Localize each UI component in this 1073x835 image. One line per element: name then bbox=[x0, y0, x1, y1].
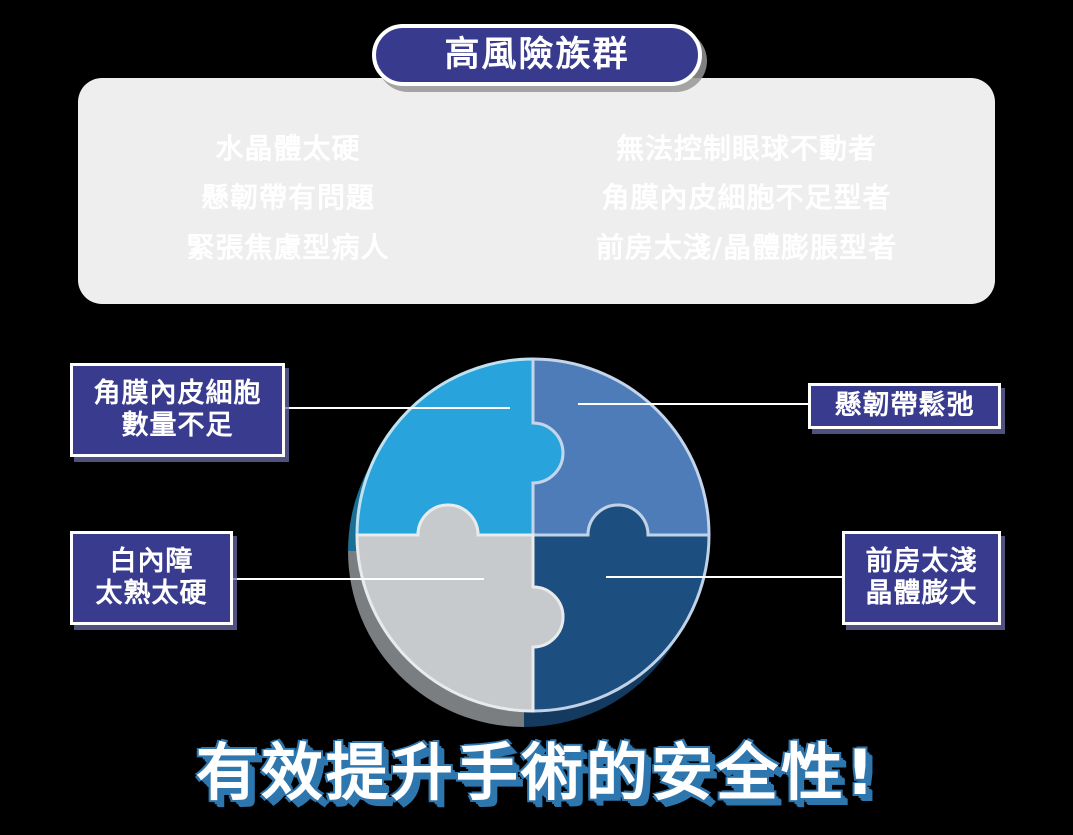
poster-canvas: 水晶體太硬 懸韌帶有問題 緊張焦慮型病人 無法控制眼球不動者 角膜內皮細胞不足型… bbox=[0, 0, 1073, 835]
callout-line: 前房太淺 bbox=[866, 546, 978, 578]
callout-line: 太熟太硬 bbox=[96, 578, 208, 610]
risk-item: 前房太淺/晶體膨脹型者 bbox=[596, 233, 897, 262]
page-title-badge: 高風險族群 bbox=[372, 24, 702, 86]
callout-line: 角膜內皮細胞 bbox=[94, 378, 262, 410]
page-title: 高風險族群 bbox=[444, 38, 629, 73]
callout-shallow-anterior-chamber[interactable]: 前房太淺 晶體膨大 bbox=[842, 531, 1001, 625]
risk-columns: 水晶體太硬 懸韌帶有問題 緊張焦慮型病人 無法控制眼球不動者 角膜內皮細胞不足型… bbox=[78, 78, 995, 304]
footer-headline-wrap: 有效提升手術的安全性! bbox=[0, 742, 1073, 804]
risk-item: 無法控制眼球不動者 bbox=[616, 134, 877, 163]
risk-item: 緊張焦慮型病人 bbox=[186, 233, 389, 262]
connector-line-bottom-right bbox=[606, 576, 854, 578]
connector-line-bottom-left bbox=[232, 578, 484, 580]
callout-zonule-laxity[interactable]: 懸韌帶鬆弛 bbox=[808, 383, 1001, 429]
puzzle-top-layer bbox=[357, 359, 709, 711]
risk-item: 角膜內皮細胞不足型者 bbox=[601, 183, 891, 212]
risk-column-left: 水晶體太硬 懸韌帶有問題 緊張焦慮型病人 bbox=[78, 134, 498, 262]
risk-item: 水晶體太硬 bbox=[215, 134, 360, 163]
connector-line-top-left bbox=[285, 407, 510, 409]
puzzle-piece-bottom-left bbox=[357, 505, 563, 711]
high-risk-panel: 水晶體太硬 懸韌帶有問題 緊張焦慮型病人 無法控制眼球不動者 角膜內皮細胞不足型… bbox=[78, 78, 995, 304]
callout-cataract-hardness[interactable]: 白內障 太熟太硬 bbox=[70, 531, 233, 625]
risk-column-right: 無法控制眼球不動者 角膜內皮細胞不足型者 前房太淺/晶體膨脹型者 bbox=[498, 134, 995, 262]
connector-line-top-right bbox=[578, 403, 810, 405]
callout-line: 懸韌帶鬆弛 bbox=[835, 390, 975, 422]
footer-headline: 有效提升手術的安全性! bbox=[196, 742, 877, 804]
risk-item: 懸韌帶有問題 bbox=[201, 183, 375, 212]
callout-line: 白內障 bbox=[110, 546, 194, 578]
callout-line: 晶體膨大 bbox=[866, 578, 978, 610]
callout-line: 數量不足 bbox=[122, 410, 234, 442]
callout-corneal-endothelium[interactable]: 角膜內皮細胞 數量不足 bbox=[70, 363, 285, 457]
